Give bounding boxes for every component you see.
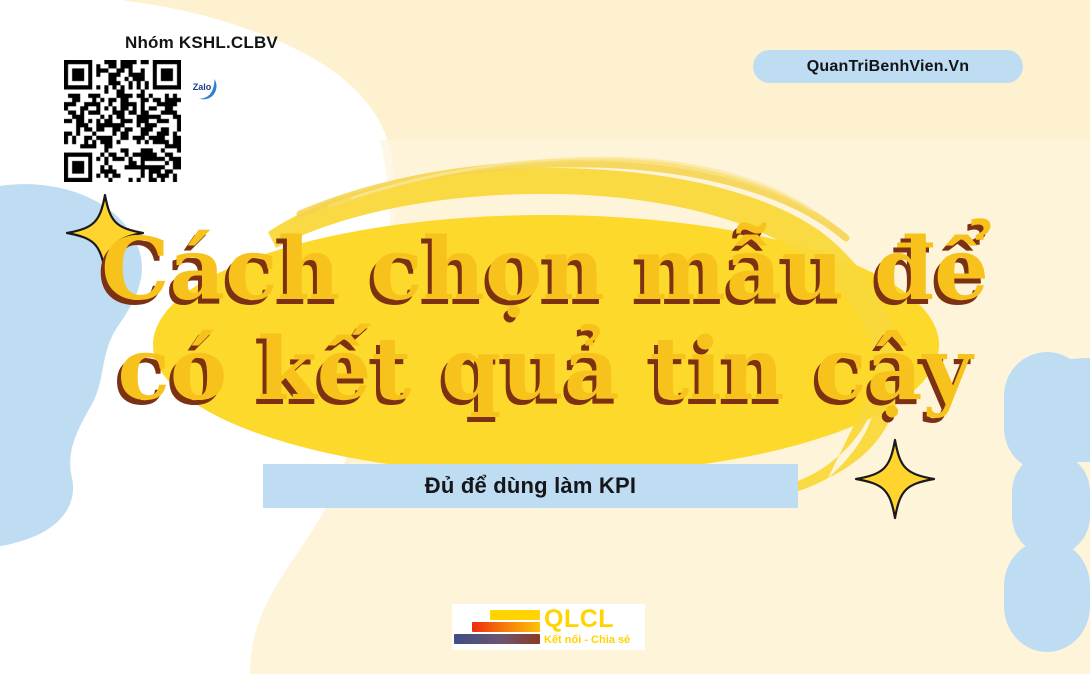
site-badge[interactable]: QuanTriBenhVien.Vn [753, 50, 1023, 83]
zalo-label: Zalo [193, 82, 212, 92]
logo-bar-bottom [454, 634, 540, 644]
logo-bars-icon [454, 607, 542, 647]
subtitle-band: Đủ để dùng làm KPI [263, 464, 798, 508]
qlcl-logo: QLCL Kết nối - Chia sẻ [452, 604, 645, 650]
logo-name: QLCL [544, 607, 630, 632]
logo-bar-top [490, 610, 540, 620]
logo-tagline: Kết nối - Chia sẻ [544, 633, 630, 647]
zalo-icon[interactable]: Zalo [185, 68, 223, 106]
logo-text-block: QLCL Kết nối - Chia sẻ [544, 607, 630, 647]
group-label: Nhóm KSHL.CLBV [125, 33, 278, 53]
subtitle-text: Đủ để dùng làm KPI [425, 473, 636, 499]
sparkle-icon-left [67, 195, 143, 271]
qr-code-image [64, 60, 181, 182]
qr-code[interactable] [64, 60, 181, 182]
logo-bar-middle [472, 622, 540, 632]
sparkle-icon-right [856, 440, 934, 518]
poster-canvas: Nhóm KSHL.CLBV Zalo QuanTriBenhVien.Vn C… [0, 0, 1090, 674]
